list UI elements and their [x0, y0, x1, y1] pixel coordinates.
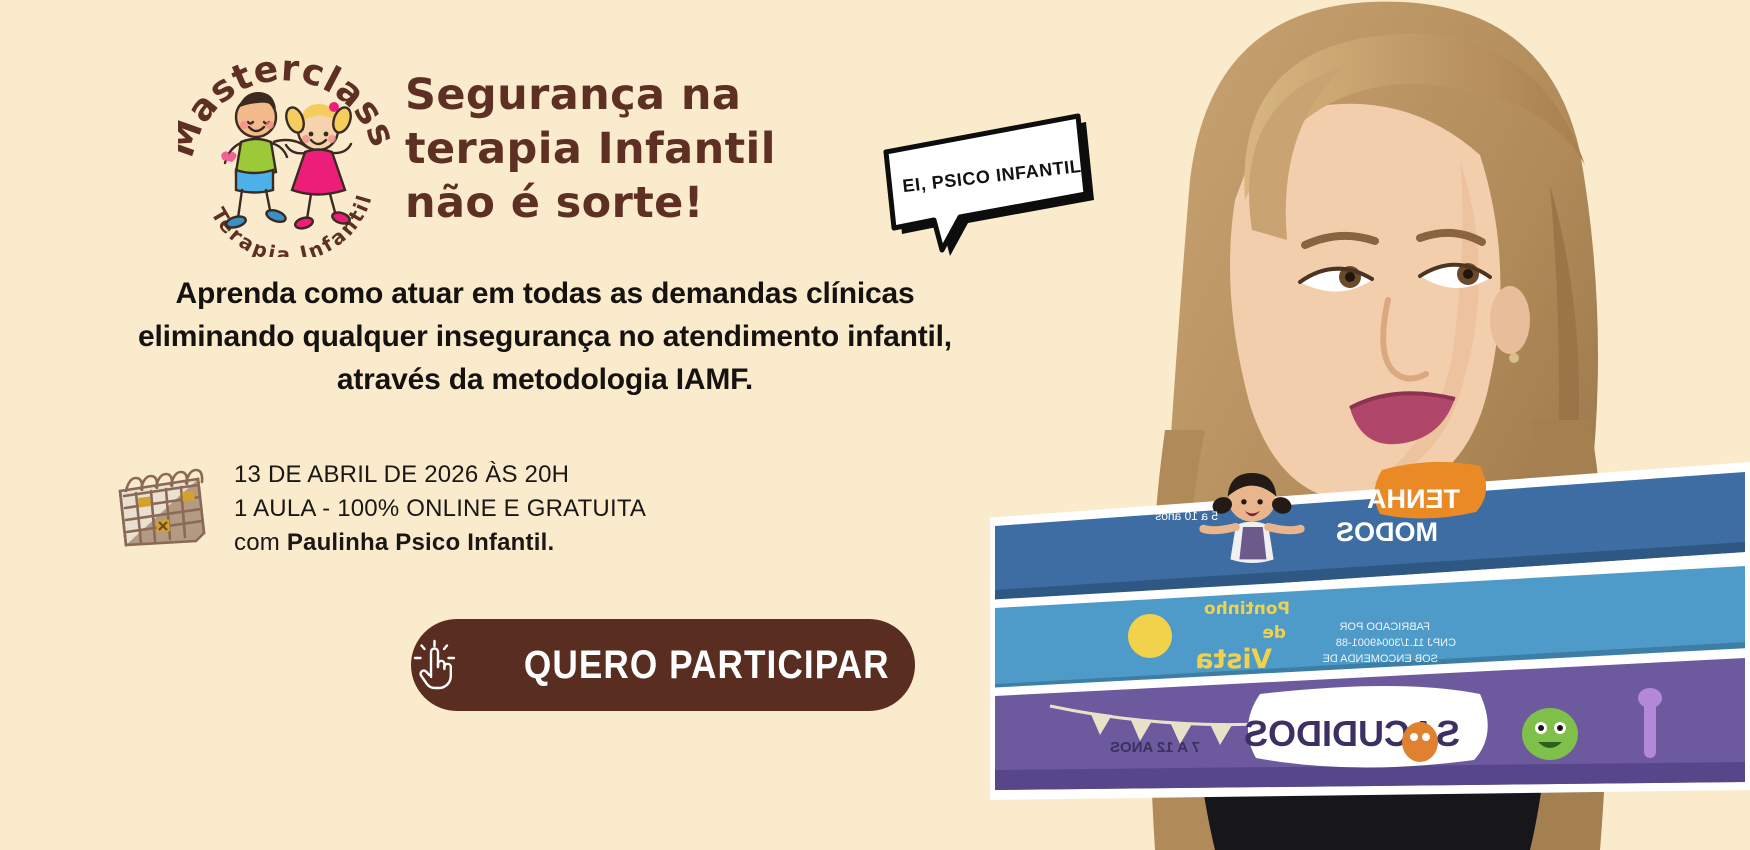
headline-line-2: terapia Infantil	[405, 122, 825, 176]
masterclass-logo: Masterclass Terapia Infantil	[178, 42, 393, 257]
event-date: 13 DE ABRIL DE 2026 ÀS 20H	[234, 458, 646, 492]
svg-text:SOB ENCOMENDA DE: SOB ENCOMENDA DE	[1322, 653, 1438, 665]
event-host: com Paulinha Psico Infantil.	[234, 526, 646, 560]
promo-banner: Masterclass Terapia Infantil	[0, 0, 1750, 850]
svg-text:Vista: Vista	[1195, 644, 1272, 675]
quero-participar-button[interactable]: QUERO PARTICIPAR	[411, 619, 915, 711]
svg-text:7 A 12 ANOS: 7 A 12 ANOS	[1110, 739, 1200, 756]
svg-text:MODOS: MODOS	[1336, 517, 1438, 547]
event-info-block: 13 DE ABRIL DE 2026 ÀS 20H 1 AULA - 100%…	[108, 452, 646, 560]
tap-hand-icon	[411, 639, 459, 691]
woman-holding-game-boxes-photo: TENHA MODOS 5 a 10 anos FABRICADO POR CN…	[990, 0, 1750, 850]
subheadline-line-1: Aprenda como atuar em todas as demandas …	[40, 272, 1050, 315]
svg-text:Pontinho: Pontinho	[1204, 599, 1290, 619]
subheadline-line-3: através da metodologia IAMF.	[40, 358, 1050, 401]
cta-label: QUERO PARTICIPAR	[524, 643, 890, 688]
headline-line-1: Segurança na	[405, 68, 825, 122]
event-format: 1 AULA - 100% ONLINE E GRATUITA	[234, 492, 646, 526]
headline-line-3: não é sorte!	[405, 176, 825, 230]
subheadline: Aprenda como atuar em todas as demandas …	[40, 272, 1050, 401]
calendar-icon	[108, 461, 212, 553]
event-host-prefix: com	[234, 529, 287, 556]
svg-text:de: de	[1262, 623, 1286, 643]
svg-text:TENHA: TENHA	[1367, 484, 1460, 514]
svg-text:5 a 10 anos: 5 a 10 anos	[1155, 509, 1218, 523]
headline: Segurança na terapia Infantil não é sort…	[405, 68, 825, 230]
svg-text:CNPJ 11.1/30049001-88: CNPJ 11.1/30049001-88	[1336, 637, 1456, 649]
subheadline-line-2: eliminando qualquer insegurança no atend…	[40, 315, 1050, 358]
svg-text:FABRICADO POR: FABRICADO POR	[1339, 621, 1430, 633]
event-info-lines: 13 DE ABRIL DE 2026 ÀS 20H 1 AULA - 100%…	[234, 452, 646, 560]
event-host-name: Paulinha Psico Infantil.	[287, 529, 555, 556]
